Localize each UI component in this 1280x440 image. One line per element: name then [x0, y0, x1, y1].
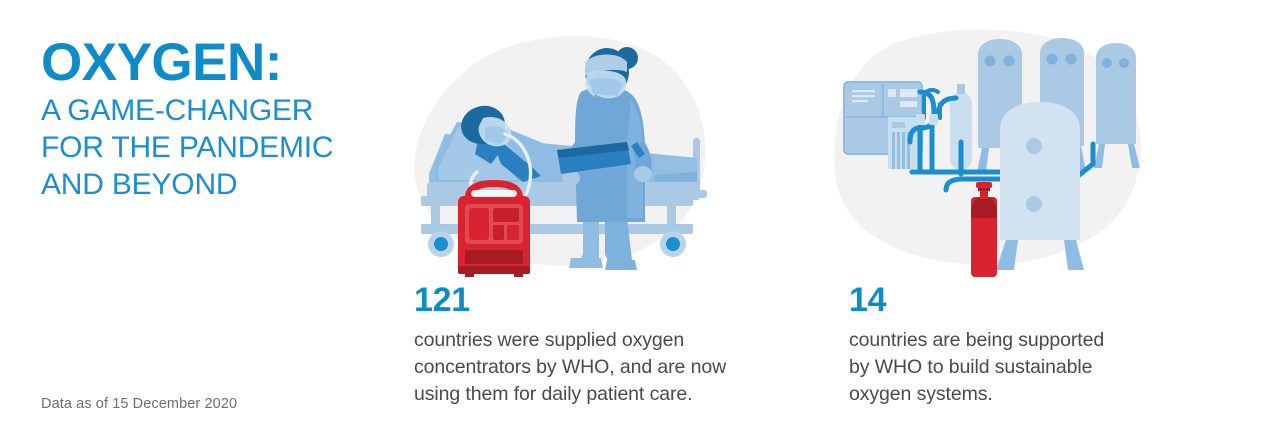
- title-line-2: A GAME-CHANGER: [41, 92, 371, 129]
- worker-shoe-left: [569, 258, 603, 268]
- stat-description-line-1: countries were supplied oxygen: [414, 327, 774, 354]
- valve-cap-2: [929, 114, 938, 125]
- stat-description-line-3: oxygen systems.: [849, 381, 1169, 408]
- tank-gauge-top: [1026, 138, 1042, 154]
- worker-shoe-right: [605, 260, 637, 270]
- oxygen-concentrator: [458, 180, 530, 277]
- title-line-main: OXYGEN:: [41, 36, 371, 90]
- stat-description-line-2: concentrators by WHO, and are now: [414, 354, 774, 381]
- worker-hand-right: [634, 166, 652, 182]
- stat-description-line-2: by WHO to build sustainable: [849, 354, 1169, 381]
- stat-number-14: 14: [849, 283, 1169, 317]
- valve-cap-1: [916, 114, 925, 125]
- data-date-note: Data as of 15 December 2020: [41, 396, 237, 412]
- infographic-canvas: OXYGEN: A GAME-CHANGER FOR THE PANDEMIC …: [0, 0, 1280, 440]
- compressor-unit: [888, 117, 918, 169]
- stat-description-121: countries were supplied oxygen concentra…: [414, 327, 774, 408]
- page-title: OXYGEN: A GAME-CHANGER FOR THE PANDEMIC …: [41, 36, 371, 204]
- cylinder-valve: [976, 182, 992, 188]
- illustration-oxygen-plant-system: [828, 22, 1173, 277]
- illustration-patient-bed-oxygen-concentrator: [405, 22, 725, 277]
- stat-block-oxygen-systems: 14 countries are being supported by WHO …: [849, 283, 1169, 408]
- stat-number-121: 121: [414, 283, 774, 317]
- panel-indicator: [888, 89, 896, 97]
- tank-gauge-bottom: [1026, 196, 1042, 212]
- stat-block-oxygen-concentrators: 121 countries were supplied oxygen conce…: [414, 283, 774, 408]
- title-line-4: AND BEYOND: [41, 166, 371, 203]
- stat-description-line-1: countries are being supported: [849, 327, 1169, 354]
- title-line-3: FOR THE PANDEMIC: [41, 129, 371, 166]
- stat-description-line-3: using them for daily patient care.: [414, 381, 774, 408]
- panel-text-lines: [852, 90, 875, 92]
- stat-description-14: countries are being supported by WHO to …: [849, 327, 1169, 408]
